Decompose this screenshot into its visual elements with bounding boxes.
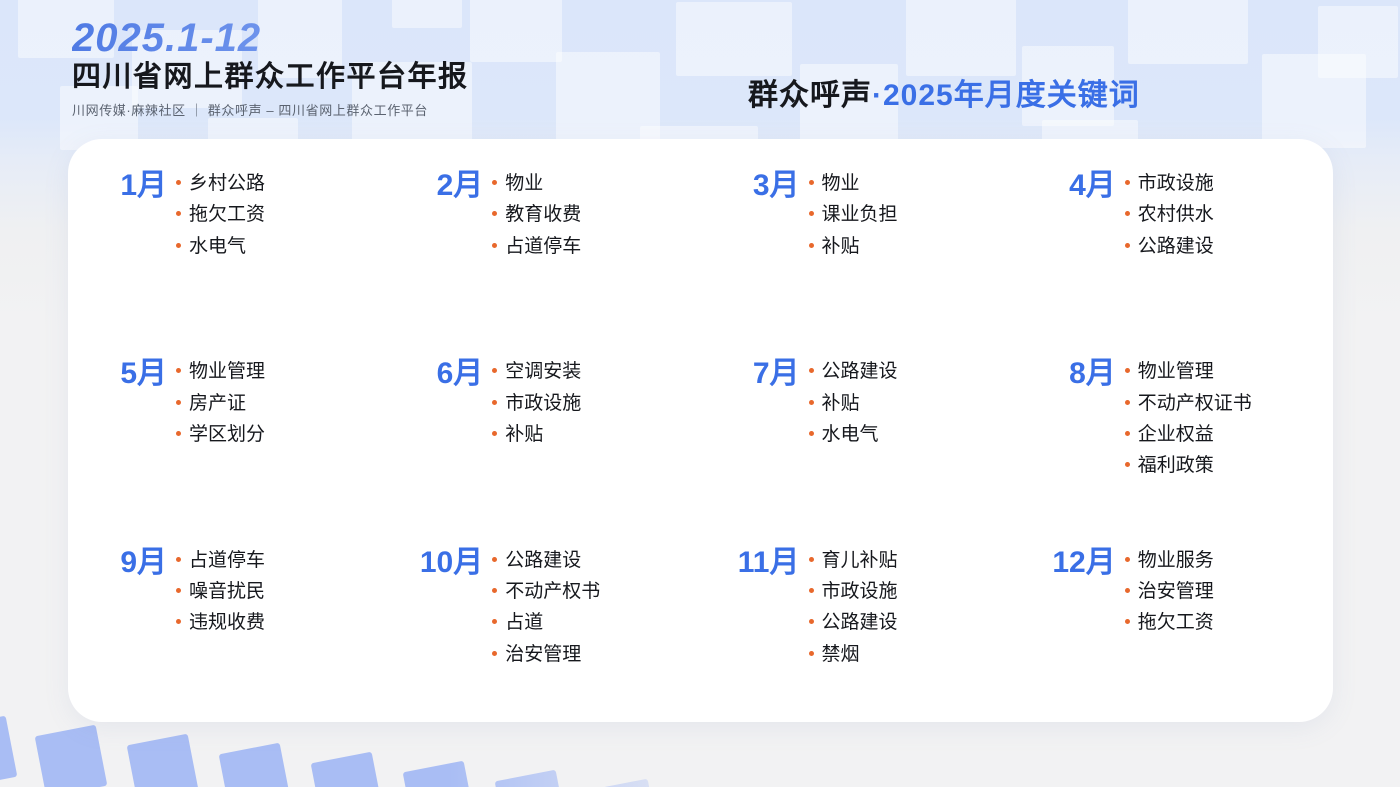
decorative-square (587, 779, 660, 787)
bullet-dot-icon (492, 588, 497, 593)
keyword-item: 农村供水 (1125, 203, 1333, 227)
keyword-label: 拖欠工资 (189, 203, 265, 227)
keyword-item: 公路建设 (1125, 235, 1333, 259)
keyword-label: 福利政策 (1138, 454, 1214, 478)
keyword-label: 课业负担 (822, 203, 898, 227)
month-label: 1月 (68, 171, 176, 201)
keyword-item: 空调安装 (492, 360, 700, 384)
keyword-label: 水电气 (189, 235, 246, 259)
decorative-square (35, 725, 108, 787)
page-title: 群众呼声·2025年月度关键词 (748, 70, 1140, 114)
keyword-label: 违规收费 (189, 611, 265, 635)
keyword-label: 物业服务 (1138, 549, 1214, 573)
keyword-label: 育儿补贴 (822, 549, 898, 573)
brand-year-range: 2025.1-12 (72, 18, 592, 58)
keyword-label: 补贴 (505, 423, 543, 447)
month-label: 3月 (701, 171, 809, 201)
bullet-dot-icon (809, 180, 814, 185)
keywords-card: 1月乡村公路拖欠工资水电气2月物业教育收费占道停车3月物业课业负担补贴4月市政设… (68, 139, 1333, 722)
keyword-label: 物业 (822, 172, 860, 196)
month-cell: 12月物业服务治安管理拖欠工资 (1017, 534, 1333, 722)
decorative-square (311, 752, 384, 787)
month-cell: 5月物业管理房产证学区划分 (68, 345, 384, 533)
bullet-dot-icon (809, 588, 814, 593)
keyword-item: 违规收费 (176, 611, 384, 635)
keyword-label: 不动产权证书 (1138, 392, 1252, 416)
month-cell: 1月乡村公路拖欠工资水电气 (68, 157, 384, 345)
month-grid: 1月乡村公路拖欠工资水电气2月物业教育收费占道停车3月物业课业负担补贴4月市政设… (68, 139, 1333, 722)
keyword-label: 公路建设 (822, 611, 898, 635)
keyword-label: 公路建设 (505, 549, 581, 573)
keyword-label: 拖欠工资 (1138, 611, 1214, 635)
keyword-list: 物业管理不动产权证书企业权益福利政策 (1125, 359, 1333, 478)
keyword-item: 福利政策 (1125, 454, 1333, 478)
keyword-label: 治安管理 (505, 643, 581, 667)
keyword-item: 物业 (492, 172, 700, 196)
keyword-label: 占道停车 (505, 235, 581, 259)
bullet-dot-icon (1125, 243, 1130, 248)
month-label: 5月 (68, 359, 176, 389)
keyword-label: 市政设施 (822, 580, 898, 604)
month-label: 12月 (1017, 548, 1125, 578)
keyword-list: 占道停车噪音扰民违规收费 (176, 548, 384, 636)
keyword-item: 课业负担 (809, 203, 1017, 227)
bullet-dot-icon (492, 400, 497, 405)
keyword-item: 噪音扰民 (176, 580, 384, 604)
month-label: 8月 (1017, 359, 1125, 389)
month-label: 9月 (68, 548, 176, 578)
keyword-label: 占道 (505, 611, 543, 635)
keyword-item: 企业权益 (1125, 423, 1333, 447)
keyword-item: 拖欠工资 (176, 203, 384, 227)
keyword-item: 物业管理 (176, 360, 384, 384)
keyword-label: 补贴 (822, 392, 860, 416)
keyword-item: 学区划分 (176, 423, 384, 447)
bullet-dot-icon (176, 431, 181, 436)
bullet-dot-icon (176, 180, 181, 185)
keyword-label: 学区划分 (189, 423, 265, 447)
keyword-item: 禁烟 (809, 643, 1017, 667)
bullet-dot-icon (492, 619, 497, 624)
month-cell: 11月育儿补贴市政设施公路建设禁烟 (701, 534, 1017, 722)
bullet-dot-icon (1125, 180, 1130, 185)
bullet-dot-icon (1125, 368, 1130, 373)
keyword-item: 公路建设 (809, 360, 1017, 384)
keyword-item: 物业管理 (1125, 360, 1333, 384)
page-title-primary: 群众呼声 (748, 79, 872, 112)
keyword-label: 公路建设 (1138, 235, 1214, 259)
month-cell: 7月公路建设补贴水电气 (701, 345, 1017, 533)
month-label: 4月 (1017, 171, 1125, 201)
bullet-dot-icon (1125, 400, 1130, 405)
keyword-item: 不动产权证书 (1125, 392, 1333, 416)
bullet-dot-icon (176, 243, 181, 248)
keyword-label: 房产证 (189, 392, 246, 416)
keyword-label: 禁烟 (822, 643, 860, 667)
keyword-item: 补贴 (492, 423, 700, 447)
keyword-label: 不动产权书 (505, 580, 600, 604)
bullet-dot-icon (176, 211, 181, 216)
keyword-item: 水电气 (809, 423, 1017, 447)
keyword-label: 公路建设 (822, 360, 898, 384)
bullet-dot-icon (809, 400, 814, 405)
keyword-label: 企业权益 (1138, 423, 1214, 447)
bullet-dot-icon (809, 243, 814, 248)
bullet-dot-icon (1125, 619, 1130, 624)
bullet-dot-icon (492, 243, 497, 248)
keyword-item: 占道停车 (492, 235, 700, 259)
keyword-item: 治安管理 (492, 643, 700, 667)
month-label: 6月 (384, 359, 492, 389)
bullet-dot-icon (492, 651, 497, 656)
keyword-item: 市政设施 (809, 580, 1017, 604)
bullet-dot-icon (809, 619, 814, 624)
month-cell: 8月物业管理不动产权证书企业权益福利政策 (1017, 345, 1333, 533)
keyword-item: 水电气 (176, 235, 384, 259)
decorative-square (403, 761, 476, 787)
keyword-label: 农村供水 (1138, 203, 1214, 227)
keyword-item: 治安管理 (1125, 580, 1333, 604)
bullet-dot-icon (176, 588, 181, 593)
bullet-dot-icon (809, 431, 814, 436)
bullet-dot-icon (492, 368, 497, 373)
keyword-item: 补贴 (809, 235, 1017, 259)
decorative-square (219, 743, 292, 787)
keyword-label: 物业管理 (1138, 360, 1214, 384)
keyword-list: 空调安装市政设施补贴 (492, 359, 700, 447)
bullet-dot-icon (492, 431, 497, 436)
keyword-item: 市政设施 (1125, 172, 1333, 196)
keyword-label: 治安管理 (1138, 580, 1214, 604)
keyword-list: 物业服务治安管理拖欠工资 (1125, 548, 1333, 636)
keyword-list: 育儿补贴市政设施公路建设禁烟 (809, 548, 1017, 667)
bullet-dot-icon (176, 619, 181, 624)
keyword-item: 公路建设 (492, 549, 700, 573)
month-cell: 2月物业教育收费占道停车 (384, 157, 700, 345)
keyword-item: 拖欠工资 (1125, 611, 1333, 635)
keyword-label: 占道停车 (189, 549, 265, 573)
bullet-dot-icon (809, 651, 814, 656)
bullet-dot-icon (492, 180, 497, 185)
keyword-item: 公路建设 (809, 611, 1017, 635)
keyword-label: 市政设施 (1138, 172, 1214, 196)
brand-subtitle: 川网传媒·麻辣社区 ｜ 群众呼声 – 四川省网上群众工作平台 (72, 100, 592, 119)
keyword-label: 物业 (505, 172, 543, 196)
keyword-label: 补贴 (822, 235, 860, 259)
keyword-item: 市政设施 (492, 392, 700, 416)
decorative-square (0, 716, 17, 787)
month-cell: 9月占道停车噪音扰民违规收费 (68, 534, 384, 722)
keyword-item: 物业 (809, 172, 1017, 196)
bullet-dot-icon (1125, 462, 1130, 467)
keyword-list: 物业管理房产证学区划分 (176, 359, 384, 447)
brand-report-title: 四川省网上群众工作平台年报 (72, 60, 592, 94)
keyword-label: 市政设施 (505, 392, 581, 416)
keyword-list: 公路建设不动产权书占道治安管理 (492, 548, 700, 667)
bullet-dot-icon (809, 557, 814, 562)
decorative-square (127, 734, 200, 787)
bullet-dot-icon (1125, 557, 1130, 562)
month-cell: 6月空调安装市政设施补贴 (384, 345, 700, 533)
bullet-dot-icon (492, 557, 497, 562)
month-label: 11月 (701, 548, 809, 578)
page-title-secondary: ·2025年月度关键词 (872, 79, 1140, 112)
month-cell: 4月市政设施农村供水公路建设 (1017, 157, 1333, 345)
month-label: 2月 (384, 171, 492, 201)
keyword-list: 公路建设补贴水电气 (809, 359, 1017, 447)
month-label: 7月 (701, 359, 809, 389)
keyword-item: 占道 (492, 611, 700, 635)
infographic-page: 2025.1-12 四川省网上群众工作平台年报 川网传媒·麻辣社区 ｜ 群众呼声… (0, 0, 1400, 787)
bullet-dot-icon (176, 368, 181, 373)
keyword-label: 乡村公路 (189, 172, 265, 196)
keyword-label: 空调安装 (505, 360, 581, 384)
keyword-item: 教育收费 (492, 203, 700, 227)
keyword-item: 不动产权书 (492, 580, 700, 604)
bullet-dot-icon (1125, 211, 1130, 216)
bullet-dot-icon (1125, 431, 1130, 436)
bullet-dot-icon (176, 557, 181, 562)
keyword-item: 占道停车 (176, 549, 384, 573)
page-header: 2025.1-12 四川省网上群众工作平台年报 川网传媒·麻辣社区 ｜ 群众呼声… (0, 0, 1400, 140)
keyword-item: 育儿补贴 (809, 549, 1017, 573)
keyword-list: 乡村公路拖欠工资水电气 (176, 171, 384, 259)
month-label: 10月 (384, 548, 492, 578)
keyword-list: 物业教育收费占道停车 (492, 171, 700, 259)
keyword-label: 教育收费 (505, 203, 581, 227)
keyword-label: 水电气 (822, 423, 879, 447)
keyword-list: 市政设施农村供水公路建设 (1125, 171, 1333, 259)
bullet-dot-icon (1125, 588, 1130, 593)
keyword-label: 物业管理 (189, 360, 265, 384)
keyword-list: 物业课业负担补贴 (809, 171, 1017, 259)
bullet-dot-icon (176, 400, 181, 405)
bullet-dot-icon (809, 368, 814, 373)
bullet-dot-icon (809, 211, 814, 216)
keyword-item: 乡村公路 (176, 172, 384, 196)
keyword-item: 补贴 (809, 392, 1017, 416)
keyword-item: 物业服务 (1125, 549, 1333, 573)
month-cell: 10月公路建设不动产权书占道治安管理 (384, 534, 700, 722)
decorative-square (495, 770, 568, 787)
keyword-label: 噪音扰民 (189, 580, 265, 604)
keyword-item: 房产证 (176, 392, 384, 416)
brand-block: 2025.1-12 四川省网上群众工作平台年报 川网传媒·麻辣社区 ｜ 群众呼声… (72, 18, 592, 119)
bullet-dot-icon (492, 211, 497, 216)
month-cell: 3月物业课业负担补贴 (701, 157, 1017, 345)
